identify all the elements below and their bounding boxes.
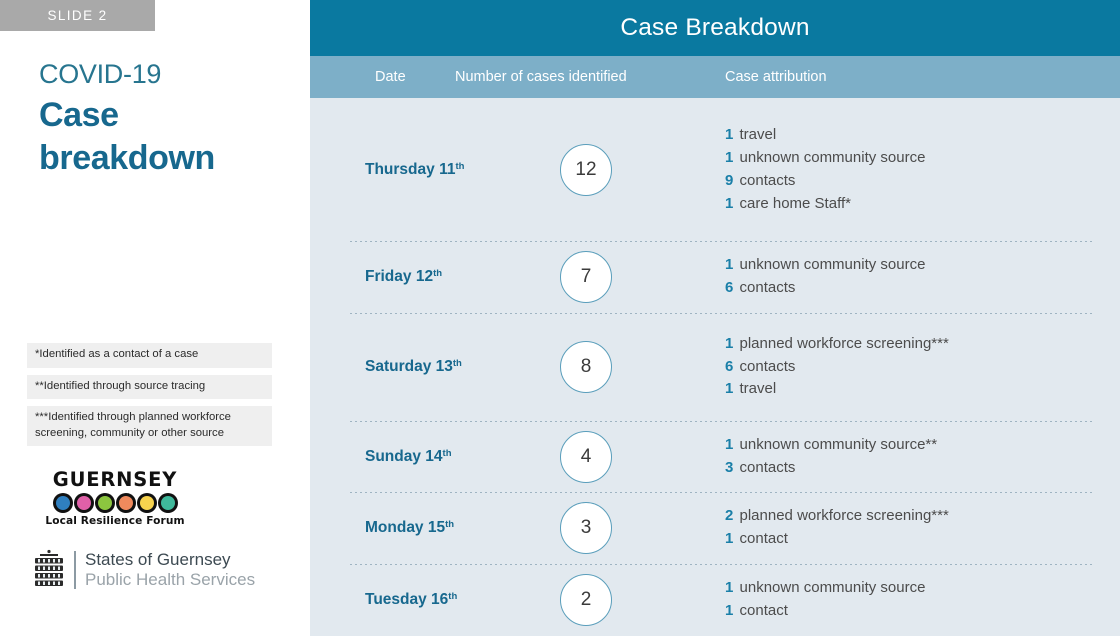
attribution-count: 1 bbox=[725, 602, 733, 619]
case-count-circle: 2 bbox=[560, 574, 612, 626]
guernsey-crest-icon bbox=[31, 549, 67, 591]
logo-group: GUERNSEY Local Resilience Forum bbox=[27, 468, 277, 591]
attribution-label: travel bbox=[735, 126, 776, 143]
attribution-label: unknown community source bbox=[735, 256, 925, 273]
panel-header-bar: Case Breakdown bbox=[310, 0, 1120, 56]
attribution-line: 1 care home Staff* bbox=[725, 193, 1100, 216]
footnote-item: ***Identified through planned workforce … bbox=[27, 406, 272, 446]
table-row: Monday 15th32 planned workforce screenin… bbox=[310, 492, 1120, 564]
attribution-label: planned workforce screening*** bbox=[735, 335, 948, 352]
lrf-person-icon bbox=[116, 493, 136, 513]
title-main-line1: Case bbox=[39, 94, 299, 138]
attribution-count: 1 bbox=[725, 126, 733, 143]
table-row: Thursday 11th121 travel1 unknown communi… bbox=[310, 98, 1120, 241]
attribution-count: 1 bbox=[725, 380, 733, 397]
attribution-line: 3 contacts bbox=[725, 457, 1100, 480]
attribution-label: unknown community source** bbox=[735, 436, 937, 453]
row-case-count: 12 bbox=[455, 144, 725, 196]
lrf-pie-icon bbox=[137, 493, 157, 513]
title-main-line2: breakdown bbox=[39, 137, 299, 181]
attribution-line: 1 travel bbox=[725, 124, 1100, 147]
attribution-line: 6 contacts bbox=[725, 356, 1100, 379]
attribution-line: 1 unknown community source bbox=[725, 577, 1100, 600]
attribution-label: care home Staff* bbox=[735, 195, 851, 212]
attribution-line: 6 contacts bbox=[725, 277, 1100, 300]
logo-divider bbox=[74, 551, 76, 589]
attribution-label: contacts bbox=[735, 279, 795, 296]
attribution-line: 1 contact bbox=[725, 600, 1100, 623]
title-main: Case breakdown bbox=[39, 94, 299, 181]
row-attributions: 1 planned workforce screening***6 contac… bbox=[725, 333, 1120, 402]
footnote-item: **Identified through source tracing bbox=[27, 375, 272, 400]
row-date: Tuesday 16th bbox=[310, 591, 455, 609]
attribution-count: 1 bbox=[725, 195, 733, 212]
row-case-count: 4 bbox=[455, 431, 725, 483]
attribution-line: 2 planned workforce screening*** bbox=[725, 505, 1100, 528]
attribution-label: travel bbox=[735, 380, 776, 397]
column-header-date: Date bbox=[310, 69, 455, 85]
case-breakdown-panel: Case Breakdown Date Number of cases iden… bbox=[310, 0, 1120, 636]
footnotes-list: *Identified as a contact of a case **Ide… bbox=[27, 343, 272, 453]
row-date: Monday 15th bbox=[310, 519, 455, 537]
attribution-count: 1 bbox=[725, 335, 733, 352]
slide-number-badge: SLIDE 2 bbox=[0, 0, 155, 31]
sog-wordmark: States of Guernsey Public Health Service… bbox=[85, 550, 255, 590]
attribution-count: 1 bbox=[725, 149, 733, 166]
attribution-label: unknown community source bbox=[735, 579, 925, 596]
lrf-info-icon bbox=[53, 493, 73, 513]
attribution-line: 1 travel bbox=[725, 378, 1100, 401]
case-count-circle: 3 bbox=[560, 502, 612, 554]
row-attributions: 1 unknown community source**3 contacts bbox=[725, 434, 1120, 480]
attribution-label: contacts bbox=[735, 172, 795, 189]
attribution-label: contacts bbox=[735, 358, 795, 375]
row-date: Thursday 11th bbox=[310, 161, 455, 179]
attribution-label: contacts bbox=[735, 459, 795, 476]
row-case-count: 7 bbox=[455, 251, 725, 303]
attribution-label: unknown community source bbox=[735, 149, 925, 166]
attribution-count: 1 bbox=[725, 256, 733, 273]
attribution-line: 1 unknown community source bbox=[725, 147, 1100, 170]
lrf-subtitle: Local Resilience Forum bbox=[45, 515, 185, 527]
column-header-attribution: Case attribution bbox=[725, 69, 1120, 85]
guernsey-lrf-logo: GUERNSEY Local Resilience Forum bbox=[45, 468, 185, 527]
attribution-count: 1 bbox=[725, 530, 733, 547]
slide-badge-label: SLIDE 2 bbox=[47, 8, 107, 23]
lrf-icon-row bbox=[45, 493, 185, 513]
attribution-count: 2 bbox=[725, 507, 733, 524]
attribution-line: 1 contact bbox=[725, 528, 1100, 551]
lrf-wordmark: GUERNSEY bbox=[45, 468, 185, 491]
row-date: Saturday 13th bbox=[310, 358, 455, 376]
case-count-circle: 12 bbox=[560, 144, 612, 196]
attribution-line: 1 planned workforce screening*** bbox=[725, 333, 1100, 356]
table-column-header: Date Number of cases identified Case att… bbox=[310, 56, 1120, 98]
footnote-item: *Identified as a contact of a case bbox=[27, 343, 272, 368]
attribution-line: 9 contacts bbox=[725, 170, 1100, 193]
attribution-count: 9 bbox=[725, 172, 733, 189]
row-attributions: 2 planned workforce screening***1 contac… bbox=[725, 505, 1120, 551]
case-count-circle: 4 bbox=[560, 431, 612, 483]
page-title: COVID-19 Case breakdown bbox=[39, 58, 299, 181]
row-case-count: 2 bbox=[455, 574, 725, 626]
attribution-line: 1 unknown community source** bbox=[725, 434, 1100, 457]
table-row: Friday 12th71 unknown community source6 … bbox=[310, 241, 1120, 313]
lrf-people-icon bbox=[74, 493, 94, 513]
left-sidebar: SLIDE 2 COVID-19 Case breakdown *Identif… bbox=[0, 0, 310, 636]
lrf-arrow-icon bbox=[95, 493, 115, 513]
attribution-label: contact bbox=[735, 602, 788, 619]
case-count-circle: 7 bbox=[560, 251, 612, 303]
attribution-count: 3 bbox=[725, 459, 733, 476]
table-row: Sunday 14th41 unknown community source**… bbox=[310, 421, 1120, 493]
attribution-count: 6 bbox=[725, 279, 733, 296]
title-subject: COVID-19 bbox=[39, 58, 299, 92]
attribution-count: 6 bbox=[725, 358, 733, 375]
states-of-guernsey-logo: States of Guernsey Public Health Service… bbox=[31, 549, 277, 591]
row-attributions: 1 travel1 unknown community source9 cont… bbox=[725, 124, 1120, 216]
attribution-count: 1 bbox=[725, 579, 733, 596]
attribution-line: 1 unknown community source bbox=[725, 254, 1100, 277]
attribution-count: 1 bbox=[725, 436, 733, 453]
panel-title: Case Breakdown bbox=[620, 14, 809, 42]
sog-line-2: Public Health Services bbox=[85, 570, 255, 590]
table-row: Saturday 13th81 planned workforce screen… bbox=[310, 313, 1120, 421]
row-date: Friday 12th bbox=[310, 268, 455, 286]
table-body: Thursday 11th121 travel1 unknown communi… bbox=[310, 98, 1120, 636]
lrf-plus-icon bbox=[158, 493, 178, 513]
row-attributions: 1 unknown community source6 contacts bbox=[725, 254, 1120, 300]
row-case-count: 3 bbox=[455, 502, 725, 554]
case-count-circle: 8 bbox=[560, 341, 612, 393]
sog-line-1: States of Guernsey bbox=[85, 550, 255, 570]
row-case-count: 8 bbox=[455, 341, 725, 393]
attribution-label: contact bbox=[735, 530, 788, 547]
column-header-number: Number of cases identified bbox=[455, 69, 725, 85]
row-attributions: 1 unknown community source1 contact bbox=[725, 577, 1120, 623]
attribution-label: planned workforce screening*** bbox=[735, 507, 948, 524]
row-date: Sunday 14th bbox=[310, 448, 455, 466]
table-row: Tuesday 16th21 unknown community source1… bbox=[310, 564, 1120, 636]
